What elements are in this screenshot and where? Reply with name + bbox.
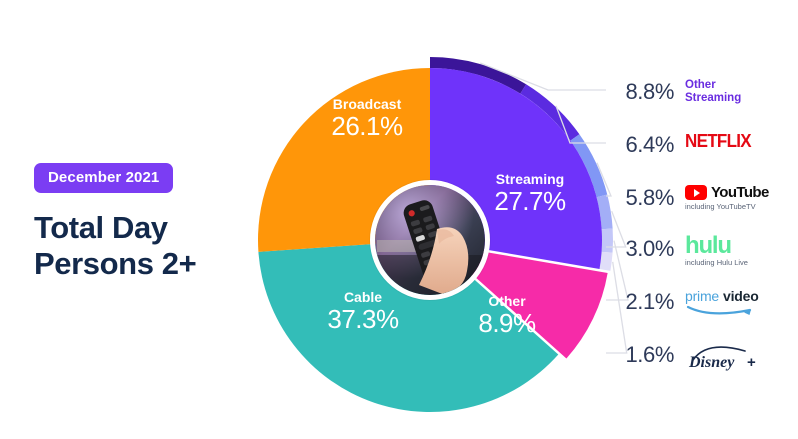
other-streaming-line1: Other	[685, 79, 716, 91]
youtube-subtitle: including YouTubeTV	[685, 202, 769, 211]
youtube-logo: YouTube	[685, 185, 769, 200]
legend-brand-prime-video: prime video	[685, 288, 760, 321]
legend-row-hulu[interactable]: 3.0% hulu including Hulu Live	[612, 235, 748, 281]
legend-pct-hulu: 3.0%	[612, 235, 674, 260]
other-streaming-line2: Streaming	[685, 92, 741, 104]
remote-illustration	[375, 185, 485, 295]
prime-word: prime	[685, 289, 719, 303]
center-photo-remote	[370, 180, 490, 300]
remote-photo-image	[375, 185, 485, 295]
legend-brand-disney-plus: Disney +	[685, 341, 770, 368]
hulu-logo: hulu	[685, 236, 748, 256]
youtube-wordmark: YouTube	[711, 185, 769, 200]
legend-pct-netflix: 6.4%	[612, 131, 674, 156]
other-streaming-logo-text: Other Streaming	[685, 79, 741, 105]
disney-plus-symbol: +	[747, 354, 756, 371]
disney-plus-logo: Disney +	[685, 342, 770, 368]
legend-brand-netflix: NETFLIX	[685, 131, 751, 149]
prime-video-logo: prime video	[685, 289, 760, 303]
youtube-play-icon	[685, 185, 707, 200]
legend-row-other-streaming[interactable]: 8.8% Other Streaming	[612, 78, 741, 124]
legend-row-netflix[interactable]: 6.4% NETFLIX	[612, 131, 751, 177]
amazon-smile-icon	[686, 305, 760, 316]
video-word: video	[723, 289, 759, 303]
legend-brand-hulu: hulu including Hulu Live	[685, 235, 748, 267]
disney-plus-wordmark-icon: Disney +	[685, 342, 773, 372]
disney-text: Disney	[688, 354, 735, 371]
legend-row-youtube[interactable]: 5.8% YouTube including YouTubeTV	[612, 184, 769, 230]
legend-brand-youtube: YouTube including YouTubeTV	[685, 184, 769, 211]
legend-pct-prime-video: 2.1%	[612, 288, 674, 313]
legend-row-disney-plus[interactable]: 1.6% Disney +	[612, 341, 770, 387]
legend-brand-other-streaming: Other Streaming	[685, 78, 741, 105]
legend-pct-disney-plus: 1.6%	[612, 341, 674, 366]
legend-pct-other-streaming: 8.8%	[612, 78, 674, 103]
infographic-canvas: December 2021 Total Day Persons 2+	[0, 0, 798, 439]
legend-row-prime-video[interactable]: 2.1% prime video	[612, 288, 760, 334]
ring-segment-disney-[interactable]	[600, 252, 613, 271]
netflix-logo: NETFLIX	[685, 132, 751, 150]
hulu-subtitle: including Hulu Live	[685, 258, 748, 267]
legend-pct-youtube: 5.8%	[612, 184, 674, 209]
